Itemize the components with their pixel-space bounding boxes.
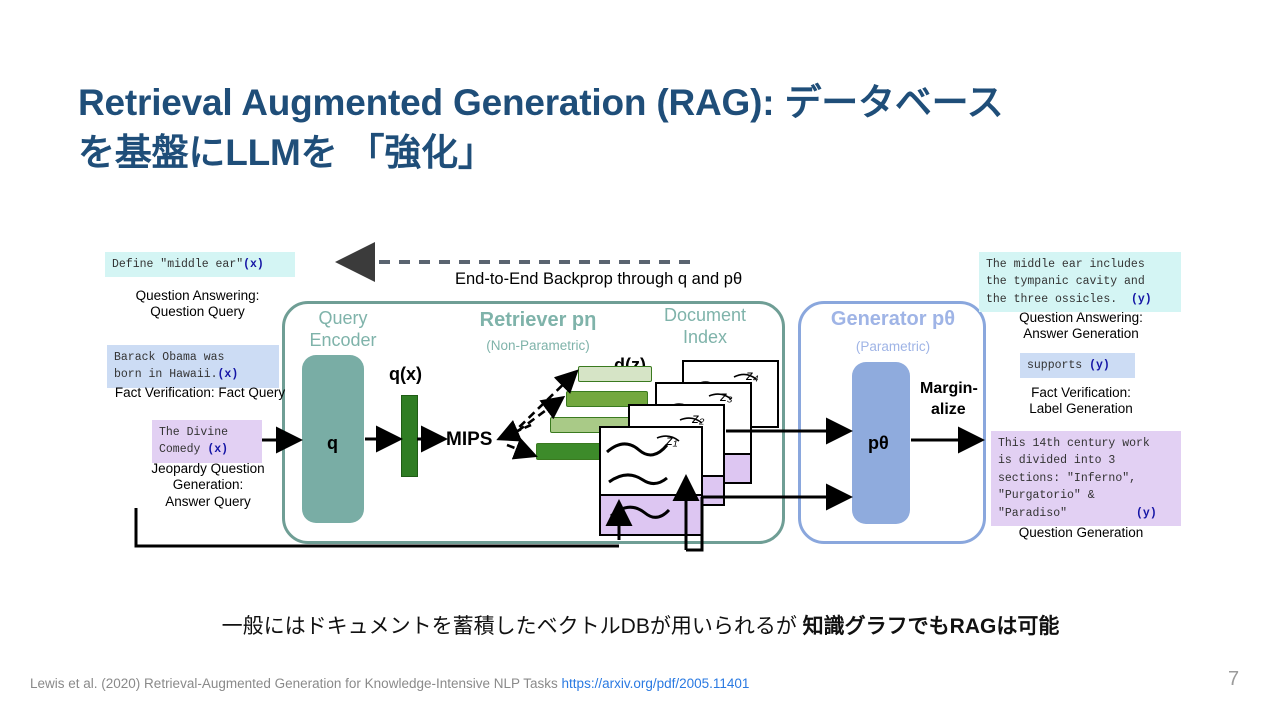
query-encoder-slab-label: q [327,433,338,454]
doc-squiggle-z1 [601,428,701,502]
generator-title: Generator pθ [805,308,981,330]
input-caption-jeopardy: Jeopardy Question Generation: Answer Que… [113,461,303,510]
sub-caption-plain: 一般にはドキュメントを蓄積したベクトルDBが用いられるが [222,615,803,638]
query-vector-bar [401,395,418,477]
paper-url-link[interactable]: https://arxiv.org/pdf/2005.11401 [562,676,750,691]
page-title: Retrieval Augmented Generation (RAG): デー… [78,78,1188,177]
relevance-bar-4 [578,366,652,382]
document-label-z2: z₂ [692,410,704,426]
mips-label: MIPS [446,429,492,451]
output-box-fact-verification: supports (y) [1020,353,1135,378]
document-label-z3: z₃ [720,388,733,404]
output-caption-fact-verification: Fact Verification: Label Generation [975,385,1187,418]
document-index-title-line-2: Index [615,327,795,347]
output-box-question-answering: The middle ear includes the tympanic cav… [979,252,1181,312]
sub-caption: 一般にはドキュメントを蓄積したベクトルDBが用いられるが 知識グラフでもRAGは… [0,610,1281,640]
backprop-label: End-to-End Backprop through q and pθ [455,270,742,289]
marginalize-label-line-2: alize [931,401,966,419]
generator-slab-label: pθ [868,433,889,454]
title-line-1: Retrieval Augmented Generation (RAG): デー… [78,82,1003,123]
doc-purple-strip-z1 [601,494,701,534]
output-caption-question-answering: Question Answering: Answer Generation [975,310,1187,343]
document-label-z4: z₄ [746,367,759,383]
output-caption-question-generation: Question Generation [975,525,1187,541]
sub-caption-bold: 知識グラフでもRAGは可能 [803,615,1060,638]
input-caption-fact-verification: Fact Verification: Fact Query [85,385,315,401]
input-box-jeopardy: The Divine Comedy (x) [152,420,262,463]
input-box-question-answering: Define "middle ear"(x) [105,252,295,277]
citation-text: Lewis et al. (2020) Retrieval-Augmented … [30,676,562,691]
input-box-fact-verification: Barack Obama was born in Hawaii.(x) [107,345,279,388]
page-number: 7 [1228,668,1239,691]
qx-label: q(x) [389,364,422,385]
generator-subtitle: (Parametric) [805,339,981,355]
document-label-z1: z₁ [666,432,677,448]
query-encoder-title-line-2: Encoder [283,330,403,350]
retriever-subtitle: (Non-Parametric) [443,338,633,354]
marginalize-label-line-1: Margin- [920,380,978,398]
input-caption-question-answering: Question Answering: Question Query [90,288,305,321]
output-box-question-generation: This 14th century work is divided into 3… [991,431,1181,526]
retriever-title: Retriever pη [453,309,623,331]
footer-citation: Lewis et al. (2020) Retrieval-Augmented … [30,676,749,691]
title-line-2: を基盤にLLMを 「強化」 [78,132,495,173]
document-card-z1 [599,426,703,536]
slide: Retrieval Augmented Generation (RAG): デー… [0,0,1281,721]
document-index-title-line-1: Document [615,305,795,325]
rag-architecture-figure: End-to-End Backprop through q and pθ Ret… [95,240,1190,550]
